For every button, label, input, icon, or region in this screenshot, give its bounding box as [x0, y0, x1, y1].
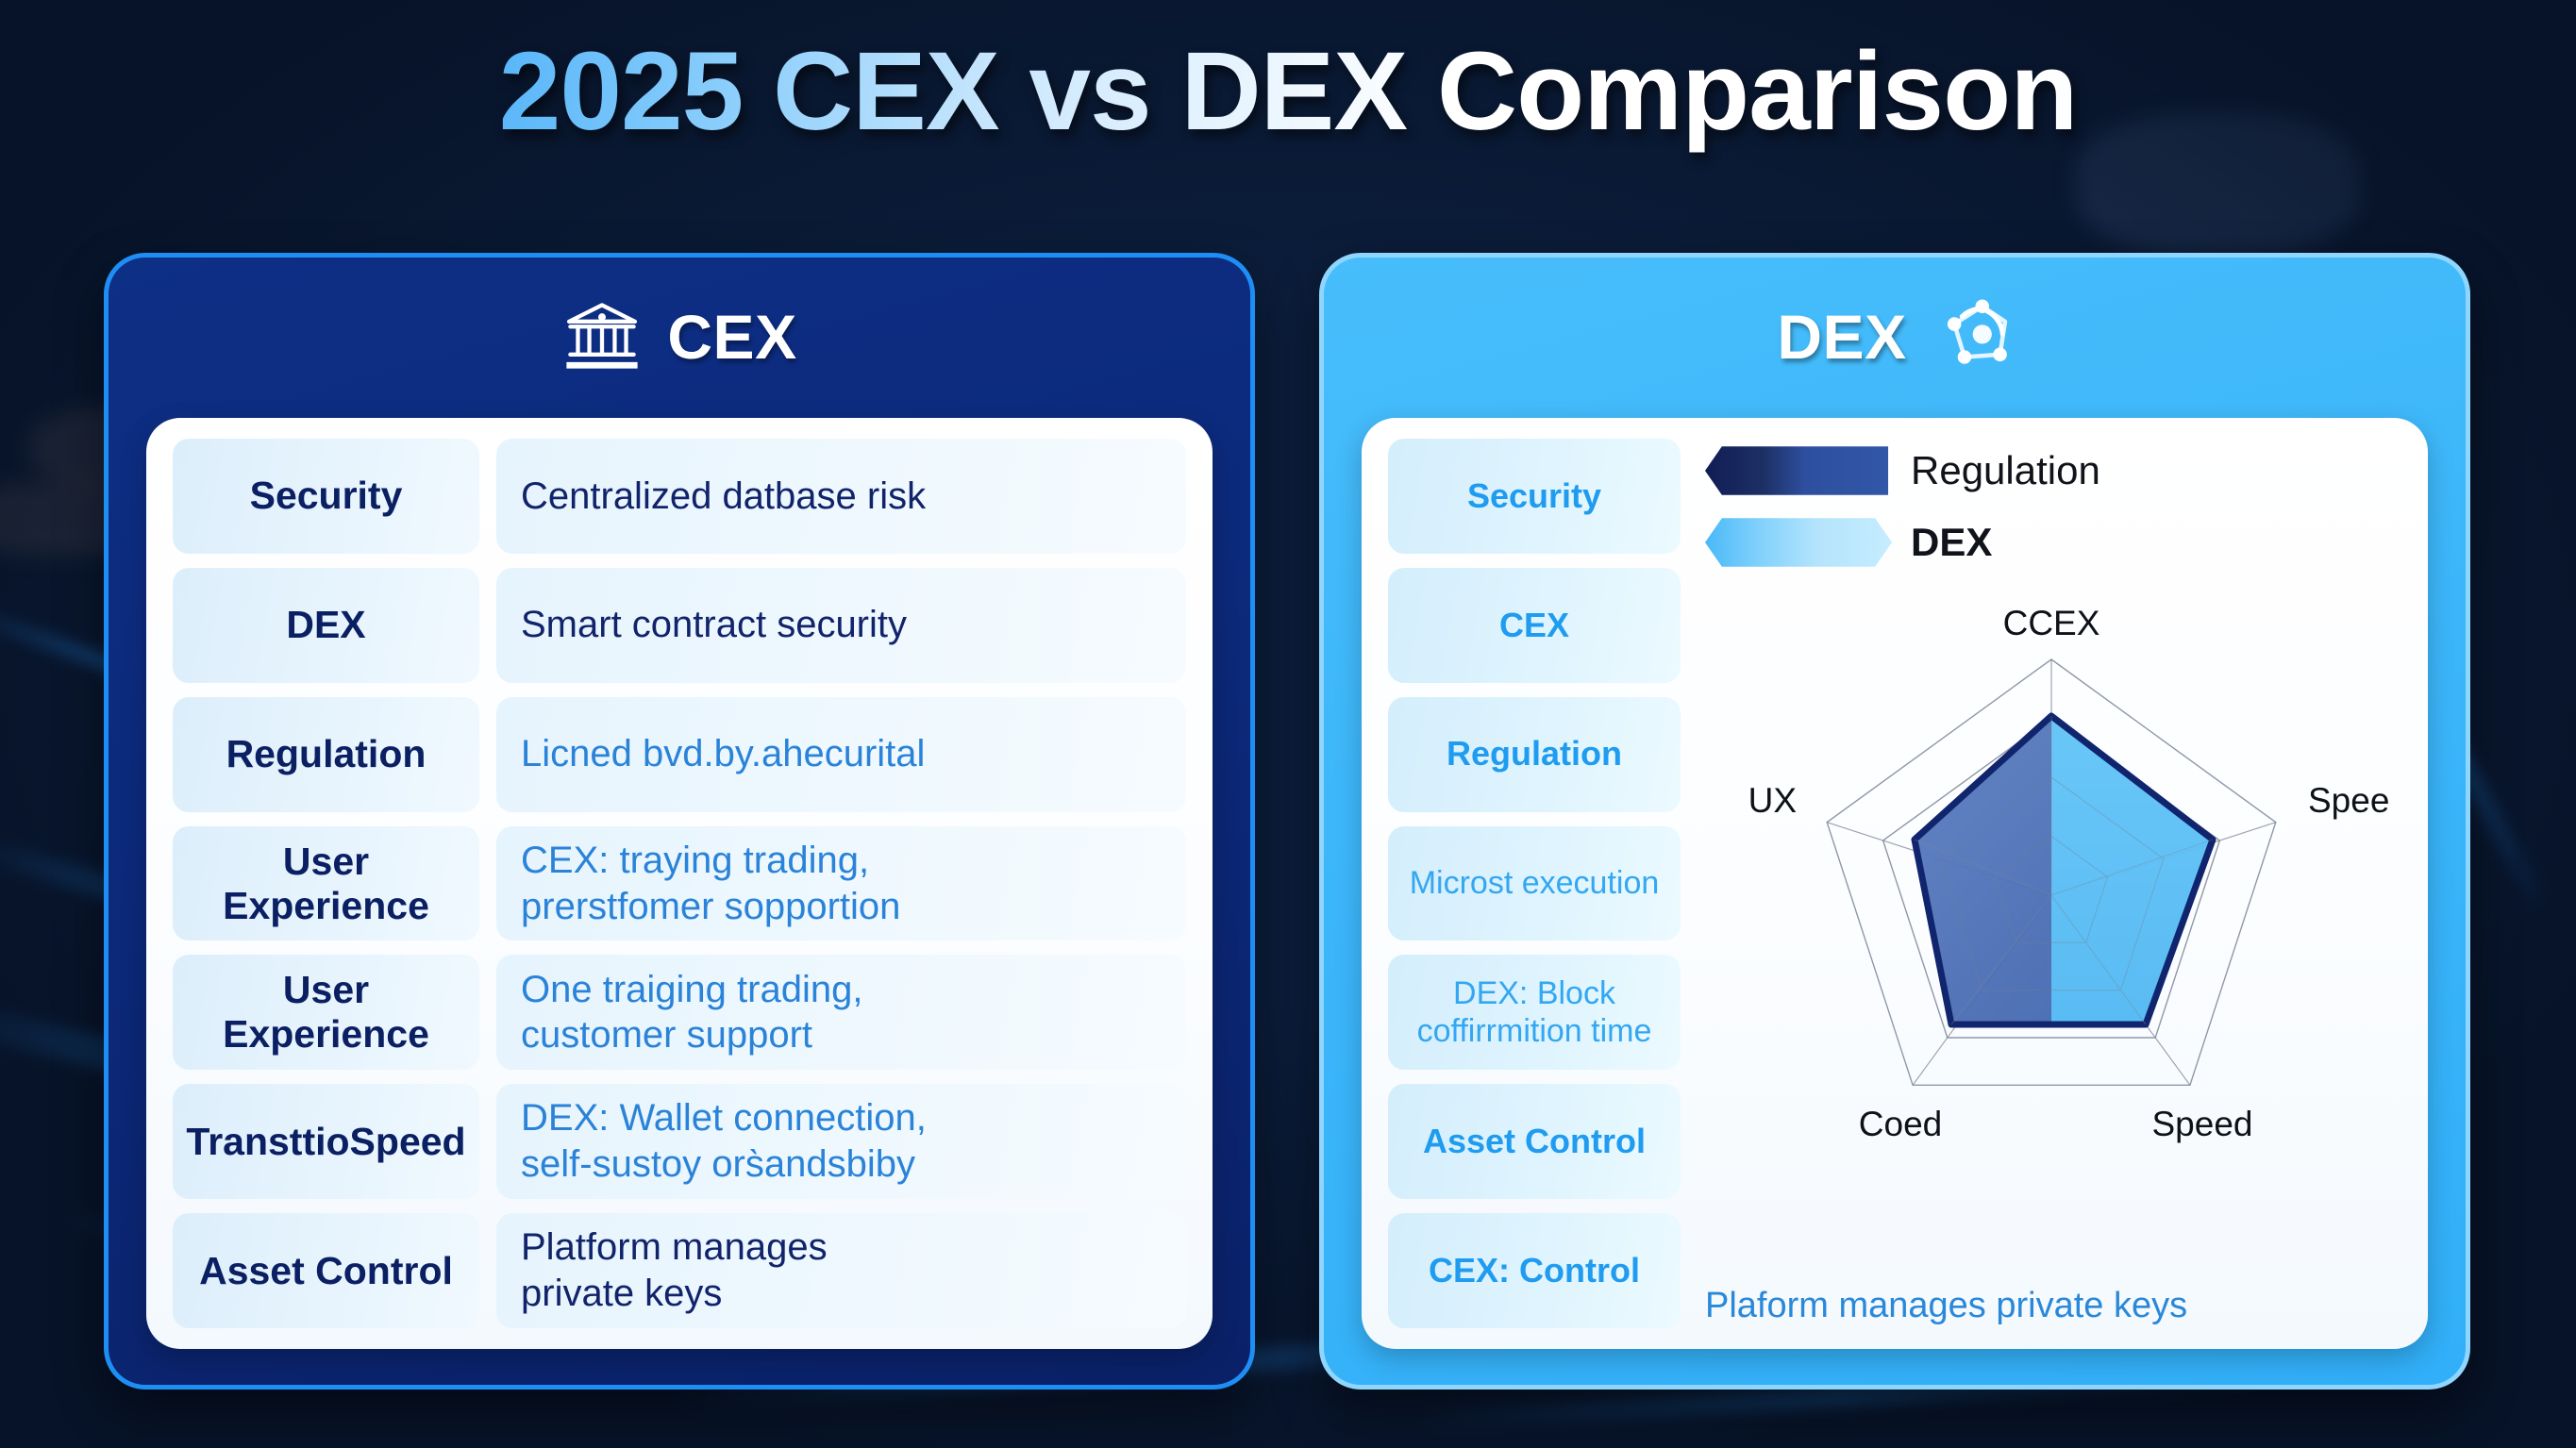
table-row: Asset Control Platform manages private k…	[173, 1213, 1186, 1328]
table-row: Security Centralized datbase risk	[173, 439, 1186, 554]
cex-row-value-line1: Smart contract security	[521, 604, 907, 645]
cex-panel-header: CEX	[109, 258, 1250, 416]
cex-panel: CEX Security Centralized datbase risk DE…	[104, 253, 1255, 1390]
dex-panel: DEX Security CEX Regulation Microst exec…	[1319, 253, 2470, 1390]
cex-row-label: User Experience	[173, 955, 479, 1070]
table-row: User Experience CEX: traying trading, pr…	[173, 826, 1186, 941]
dex-chip: Asset Control	[1388, 1084, 1681, 1199]
cex-row-value: Centralized datbase risk	[496, 439, 1186, 554]
cex-row-value-line2: private keys	[521, 1271, 828, 1317]
cex-table-card: Security Centralized datbase risk DEX Sm…	[146, 418, 1213, 1349]
dex-chart-column: Regulation	[1701, 439, 2401, 1328]
cex-row-value-line2: self-sustoy ors̀andsbiby	[521, 1141, 927, 1188]
cex-row-value-line1: CEX: traying trading,	[521, 838, 900, 884]
cex-row-value: DEX: Wallet connection, self-sustoy ors̀…	[496, 1084, 1186, 1199]
chart-legend: Regulation	[1701, 439, 2401, 591]
cex-row-value-line1: Platform manages	[521, 1224, 828, 1271]
radar-axis-label-left: UX	[1748, 781, 1797, 820]
dex-chip: CEX	[1388, 568, 1681, 683]
radar-axis-label-right: Speed	[2308, 781, 2391, 820]
network-nodes-icon	[1932, 296, 2013, 377]
legend-item: DEX	[1705, 516, 2401, 569]
dex-panel-title: DEX	[1777, 301, 1906, 373]
cex-row-value: CEX: traying trading, prerstfomer soppor…	[496, 826, 1186, 941]
cex-row-value-line2: customer support	[521, 1012, 862, 1058]
cex-row-label: DEX	[173, 568, 479, 683]
cex-row-value: One traiging trading, customer support	[496, 955, 1186, 1070]
cex-row-label: User Experience	[173, 826, 479, 941]
table-row: TransttioSpeed DEX: Wallet connection, s…	[173, 1084, 1186, 1199]
dex-chip: CEX: Control	[1388, 1213, 1681, 1328]
cex-panel-title: CEX	[667, 301, 796, 373]
legend-label: Regulation	[1911, 448, 2100, 493]
cex-row-label: Asset Control	[173, 1213, 479, 1328]
radar-chart: CCEX Speed Speed Coed UX	[1712, 593, 2391, 1178]
dex-chip: DEX: Block coffirrmition time	[1388, 955, 1681, 1070]
radar-axis-label-bottom-right: Speed	[2152, 1105, 2253, 1143]
cex-row-value: Smart contract security	[496, 568, 1186, 683]
dex-chip: Regulation	[1388, 697, 1681, 812]
dex-chip-column: Security CEX Regulation Microst executio…	[1388, 439, 1681, 1328]
table-row: Regulation Licned bvd.by.ahecurital	[173, 697, 1186, 812]
bank-building-icon	[561, 296, 643, 377]
cex-row-value-line1: One traiging trading,	[521, 967, 862, 1013]
cex-row-label: Security	[173, 439, 479, 554]
table-row: User Experience One traiging trading, cu…	[173, 955, 1186, 1070]
dex-panel-header: DEX	[1324, 258, 2466, 416]
table-row: DEX Smart contract security	[173, 568, 1186, 683]
cex-row-value: Licned bvd.by.ahecurital	[496, 697, 1186, 812]
cex-row-value-line1: DEX: Wallet connection,	[521, 1095, 927, 1141]
cex-row-value-line1: Centralized datbase risk	[521, 475, 926, 517]
radar-axis-label-top: CCEX	[2003, 604, 2100, 642]
cex-row-value-line2: prerstfomer sopportion	[521, 884, 900, 930]
cex-row-value-line1: Licned bvd.by.ahecurital	[521, 733, 925, 774]
radar-chart-wrap: CCEX Speed Speed Coed UX	[1701, 591, 2401, 1280]
navy-arrow-swatch	[1705, 444, 1892, 497]
dex-chip: Security	[1388, 439, 1681, 554]
radar-axis-label-bottom-left: Coed	[1859, 1105, 1942, 1143]
dex-chip: Microst execution	[1388, 826, 1681, 941]
dex-footnote: Plaform manages private keys	[1701, 1280, 2401, 1328]
light-arrow-swatch	[1705, 516, 1892, 569]
page-title: 2025 CEX vs DEX Comparison	[0, 23, 2576, 162]
cex-rows: Security Centralized datbase risk DEX Sm…	[173, 439, 1186, 1328]
legend-item: Regulation	[1705, 444, 2401, 497]
legend-label: DEX	[1911, 520, 1992, 565]
cex-row-label: Regulation	[173, 697, 479, 812]
cex-row-label: TransttioSpeed	[173, 1084, 479, 1199]
cex-row-value: Platform manages private keys	[496, 1213, 1186, 1328]
dex-content-card: Security CEX Regulation Microst executio…	[1362, 418, 2428, 1349]
radar-series-area	[1915, 716, 2213, 1024]
dex-grid: Security CEX Regulation Microst executio…	[1388, 439, 2401, 1328]
